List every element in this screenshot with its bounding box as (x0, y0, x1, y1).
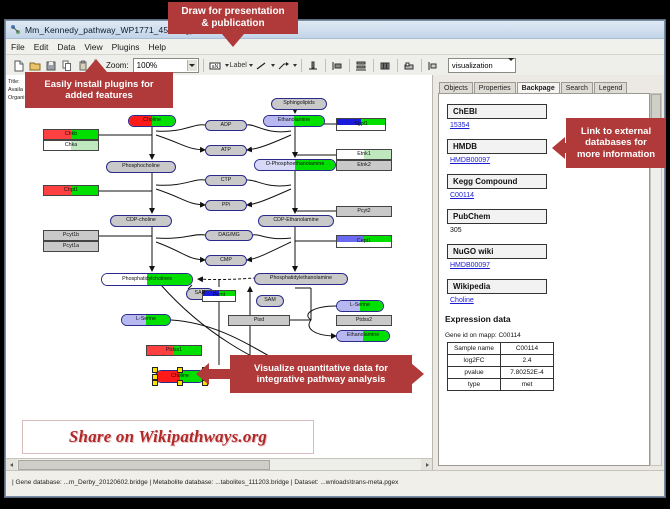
node-label: Ethanolamine (346, 333, 380, 338)
metabolite-node-l-serine-right[interactable]: L-Serine (336, 300, 384, 312)
gene-node-pemt[interactable]: Pemt (202, 290, 236, 302)
database-name: NuGO wiki (447, 244, 547, 259)
node-label: DAG/MG (217, 233, 240, 238)
database-link[interactable]: HMDB00097 (450, 262, 649, 269)
metabolite-node-o-phosphoethanolamine[interactable]: O-Phosphoethanolamine (254, 159, 336, 171)
menu-plugins[interactable]: Plugins (112, 42, 140, 52)
tab-properties[interactable]: Properties (474, 82, 516, 93)
gene-node-cept1[interactable]: Cept1 (336, 235, 392, 248)
toolbar-separator-4 (325, 59, 326, 72)
canvas-hscrollbar[interactable] (6, 458, 432, 470)
gene-node-chpt1[interactable]: Chpt1 (43, 185, 99, 196)
screenshot-root: Mm_Kennedy_pathway_WP1771_45176.gpml Fil… (0, 0, 670, 509)
callout-visualize-stem (206, 369, 232, 379)
visualization-chevron-down-icon[interactable] (508, 61, 514, 70)
gene-node-chka[interactable]: Chka (43, 140, 99, 151)
node-label: ATP (220, 148, 232, 153)
callout-plugins-arrow-icon (85, 59, 107, 72)
node-label: Pcyt1a (62, 244, 80, 249)
node-label: CTP (220, 178, 233, 183)
callout-visualize-arrow-right-icon (411, 363, 424, 385)
datanode-icon[interactable]: aN (208, 58, 223, 73)
node-label: Etnk1 (356, 152, 372, 157)
selection-handle[interactable] (177, 367, 183, 373)
metabolite-node-cdp-choline[interactable]: CDP-choline (110, 215, 172, 227)
menu-help[interactable]: Help (149, 42, 166, 52)
callout-external-links: Link to externaldatabases formore inform… (566, 118, 666, 168)
gene-node-etnk1[interactable]: Etnk1 (336, 149, 392, 160)
visualization-value: visualization (452, 61, 493, 70)
node-label: Pcyt1b (62, 233, 80, 238)
node-label: Etnk2 (356, 163, 372, 168)
gene-node-etnk2[interactable]: Etnk2 (336, 160, 392, 171)
node-label: Cept1 (356, 239, 372, 244)
node-label: L-Serine (349, 303, 371, 308)
metabolite-node-ppi[interactable]: PPi (205, 200, 247, 211)
node-label: Choline (142, 118, 162, 123)
node-label: CDP-Ethanolamine (272, 218, 319, 223)
callout-visualize-arrow-icon (196, 363, 209, 385)
expression-value: C00114 (501, 343, 554, 355)
metabolite-node-ethanolamine-1[interactable]: Ethanolamine (263, 115, 325, 127)
node-label: Ptdss2 (355, 318, 373, 323)
node-label: CDP-choline (125, 218, 157, 223)
copy-icon[interactable] (59, 58, 74, 73)
gene-node-chkb[interactable]: Chkb (43, 129, 99, 140)
toolbar-separator-7 (397, 59, 398, 72)
metabolite-node-dag-mg[interactable]: DAG/MG (205, 230, 253, 241)
new-icon[interactable] (11, 58, 26, 73)
node-label: Chka (64, 143, 78, 148)
statusbar: | Gene database: ...m_Derby_20120602.bri… (6, 470, 664, 496)
node-label: Sphingolipids (282, 101, 316, 106)
menubar: File Edit Data View Plugins Help (6, 39, 664, 55)
side-panel-tabs: ObjectsPropertiesBackpageSearchLegend (439, 79, 664, 93)
metabolite-node-adp[interactable]: ADP (205, 120, 247, 131)
expression-key: pvalue (448, 367, 501, 379)
tab-legend[interactable]: Legend (594, 82, 627, 93)
metabolite-node-cmp[interactable]: CMP (205, 255, 247, 266)
node-label: SAH (194, 291, 207, 296)
callout-draw-for-publication: Draw for presentation& publication (168, 2, 298, 34)
metabolite-node-phosphatidylethanolamine[interactable]: Phosphatidylethanolamine (254, 273, 348, 285)
metabolite-node-ethanolamine-2[interactable]: Ethanolamine (336, 330, 390, 342)
expression-row: typemet (448, 379, 554, 391)
tab-objects[interactable]: Objects (439, 82, 473, 93)
label-tool-label[interactable]: Label (230, 62, 247, 69)
toolbar-separator-6 (373, 59, 374, 72)
expression-row: Sample nameC00114 (448, 343, 554, 355)
selection-handle[interactable] (152, 374, 158, 380)
align-top-icon[interactable] (306, 58, 321, 73)
callout-visualize-quantitative: Visualize quantitative data forintegrati… (230, 355, 412, 393)
scroll-left-icon[interactable] (6, 459, 17, 470)
expression-key: Sample name (448, 343, 501, 355)
line-icon[interactable] (254, 58, 269, 73)
node-label: Phosphocholine (121, 164, 161, 169)
expression-row: pvalue7.80252E-4 (448, 367, 554, 379)
arrow-icon[interactable] (276, 58, 291, 73)
node-label: Chkb (64, 132, 78, 137)
database-name: HMDB (447, 139, 547, 154)
gene-node-ptdss1[interactable]: Ptdss1 (146, 345, 202, 356)
metabolite-node-atp[interactable]: ATP (205, 145, 247, 156)
zoom-combo[interactable]: 100% (133, 58, 199, 73)
save-icon[interactable] (43, 58, 58, 73)
node-label: O-Phosphoethanolamine (265, 162, 326, 167)
datanode-dropdown-icon[interactable] (225, 64, 229, 67)
expression-value: met (501, 379, 554, 391)
database-name: Kegg Compound (447, 174, 547, 189)
gene-node-pcyt2[interactable]: Pcyt2 (336, 206, 392, 217)
group-icon[interactable] (402, 58, 417, 73)
selection-handle[interactable] (177, 380, 183, 386)
gene-node-pcyt1a[interactable]: Pcyt1a (43, 241, 99, 252)
label-dropdown-icon[interactable] (249, 64, 253, 67)
pathvisio-icon (10, 24, 21, 35)
node-label: SAM (263, 298, 276, 303)
expression-key: log2FC (448, 355, 501, 367)
zoom-value: 100% (137, 61, 157, 70)
node-label: PPi (221, 203, 231, 208)
metabolite-node-ctp[interactable]: CTP (205, 175, 247, 186)
arrow-dropdown-icon[interactable] (293, 64, 297, 67)
toolbar-separator-5 (349, 59, 350, 72)
expression-value: 2.4 (501, 355, 554, 367)
stack-icon[interactable] (354, 58, 369, 73)
callout-top-arrow-icon (222, 34, 244, 47)
space-icon[interactable] (378, 58, 393, 73)
canvas-hscroll-thumb[interactable] (18, 460, 270, 470)
database-name: PubChem (447, 209, 547, 224)
node-label: Pisd (253, 318, 265, 323)
share-banner-text: Share on Wikipathways.org (69, 427, 267, 447)
metabolite-node-phosphatidylcholines[interactable]: Phosphatidylcholines (101, 273, 193, 286)
expression-row: log2FC2.4 (448, 355, 554, 367)
node-label: CMP (219, 258, 233, 263)
node-label: Choline (170, 374, 190, 379)
node-label: ADP (220, 123, 233, 128)
node-label: Chpt1 (63, 188, 79, 193)
database-section-pubchem: PubChem305 (447, 206, 649, 234)
callout-install-plugins: Easily install plugins foradded features (25, 72, 173, 108)
metabolite-node-l-serine-left[interactable]: L-Serine (121, 314, 171, 326)
menu-view[interactable]: View (84, 42, 102, 52)
callout-links-arrow-icon (552, 137, 565, 159)
menu-edit[interactable]: Edit (34, 42, 49, 52)
database-link[interactable]: Choline (450, 297, 649, 304)
align-left-icon[interactable] (330, 58, 345, 73)
share-banner: Share on Wikipathways.org (22, 420, 314, 454)
node-label: Ethanolamine (277, 118, 311, 123)
gene-id-line: Gene id on mapp: C00114 (445, 332, 649, 339)
node-label: Phosphatidylcholines (121, 277, 173, 282)
tab-search[interactable]: Search (561, 82, 593, 93)
node-label: Ptdss1 (165, 348, 183, 353)
metabolite-node-sam[interactable]: SAM (256, 295, 284, 307)
metabolite-node-sphingolipids[interactable]: Sphingolipids (271, 98, 327, 110)
order-icon[interactable] (426, 58, 441, 73)
database-section-wikipedia: WikipediaCholine (447, 276, 649, 304)
node-label: Pcyt2 (356, 209, 371, 214)
database-section-nugo-wiki: NuGO wikiHMDB00097 (447, 241, 649, 269)
svg-text:aN: aN (212, 64, 219, 70)
gene-node-pisd[interactable]: Pisd (228, 315, 290, 326)
gene-node-pcyt1b[interactable]: Pcyt1b (43, 230, 99, 241)
selection-handle[interactable] (152, 367, 158, 373)
line-dropdown-icon[interactable] (271, 64, 275, 67)
metabolite-node-phosphocholine[interactable]: Phosphocholine (106, 161, 176, 173)
expression-value: 7.80252E-4 (501, 367, 554, 379)
database-section-kegg-compound: Kegg CompoundC00114 (447, 171, 649, 199)
statusbar-text: | Gene database: ...m_Derby_20120602.bri… (12, 479, 398, 486)
database-name: ChEBI (447, 104, 547, 119)
node-label: L-Serine (135, 317, 157, 322)
database-link[interactable]: C00114 (450, 192, 649, 199)
toolbar-separator-2 (203, 59, 204, 72)
scroll-right-icon[interactable] (421, 459, 432, 470)
visualization-combo[interactable]: visualization (448, 58, 516, 73)
metabolite-node-cdp-ethanolamine[interactable]: CDP-Ethanolamine (258, 215, 334, 227)
menu-file[interactable]: File (11, 42, 25, 52)
toolbar-separator-3 (301, 59, 302, 72)
window-titlebar: Mm_Kennedy_pathway_WP1771_45176.gpml (6, 21, 664, 39)
node-label: Phosphatidylethanolamine (269, 276, 333, 281)
expression-table: Sample nameC00114log2FC2.4pvalue7.80252E… (447, 342, 554, 391)
pathway-canvas[interactable]: Title: Availa Organi (6, 75, 433, 470)
database-value: 305 (450, 227, 649, 234)
node-label: Pemt (212, 293, 226, 298)
database-name: Wikipedia (447, 279, 547, 294)
expression-key: type (448, 379, 501, 391)
node-label: Sgpl1 (353, 122, 369, 127)
chevron-down-icon[interactable] (187, 60, 197, 71)
menu-data[interactable]: Data (57, 42, 75, 52)
expression-data-title: Expression data (445, 314, 649, 324)
selection-handle[interactable] (152, 380, 158, 386)
metabolite-node-choline-top[interactable]: Choline (128, 115, 176, 127)
gene-node-sgpl1[interactable]: Sgpl1 (336, 118, 386, 131)
zoom-label: Zoom: (106, 61, 129, 70)
open-icon[interactable] (27, 58, 42, 73)
toolbar-separator-8 (421, 59, 422, 72)
gene-node-ptdss2[interactable]: Ptdss2 (336, 315, 392, 326)
